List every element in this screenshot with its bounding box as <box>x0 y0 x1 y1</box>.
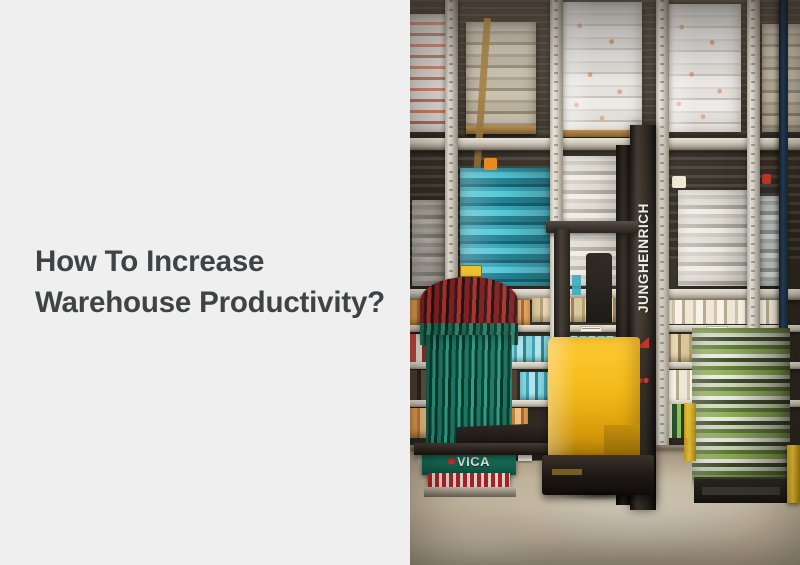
forklift-teal-sticker <box>572 275 581 295</box>
forklift-reach-truck: JUNGHEINRICH <box>542 125 674 510</box>
pallet-wrapped-white-1 <box>562 2 642 134</box>
page-title: How To Increase Warehouse Productivity? <box>35 242 398 322</box>
forklift-fork-tine <box>414 443 550 455</box>
green-bag-stack <box>692 328 790 480</box>
forklift-ground-shadow <box>538 487 662 503</box>
guard-post-right <box>787 445 800 503</box>
green-bag-pallet <box>692 328 790 503</box>
vica-base-pallet <box>424 487 516 497</box>
forklift-seat-back <box>586 253 612 323</box>
shelf-marker-cream <box>672 176 686 188</box>
shelf-marker-red <box>762 174 771 184</box>
forklift-brand-plate: JUNGHEINRICH <box>632 183 654 333</box>
pallet-wrapped-red <box>410 14 450 132</box>
bag-stack-white-far <box>412 200 446 286</box>
guard-post-left <box>684 403 696 461</box>
slide-canvas: How To Increase Warehouse Productivity? <box>0 0 800 565</box>
warehouse-photo: VICA JUNGHEINRICH <box>410 0 800 565</box>
forklift-brand-label: JUNGHEINRICH <box>636 203 651 313</box>
pallet-wrapped-white-2 <box>665 4 741 132</box>
vica-brand-label: VICA <box>448 454 490 469</box>
vica-brush-heads <box>420 277 518 339</box>
title-panel: How To Increase Warehouse Productivity? <box>0 0 410 565</box>
product-row-cream-1 <box>664 300 788 324</box>
green-pallet-base <box>694 477 788 503</box>
shelf-marker-orange <box>484 158 497 170</box>
vica-broom-display: VICA <box>418 277 520 497</box>
vica-top-tag <box>460 265 482 277</box>
